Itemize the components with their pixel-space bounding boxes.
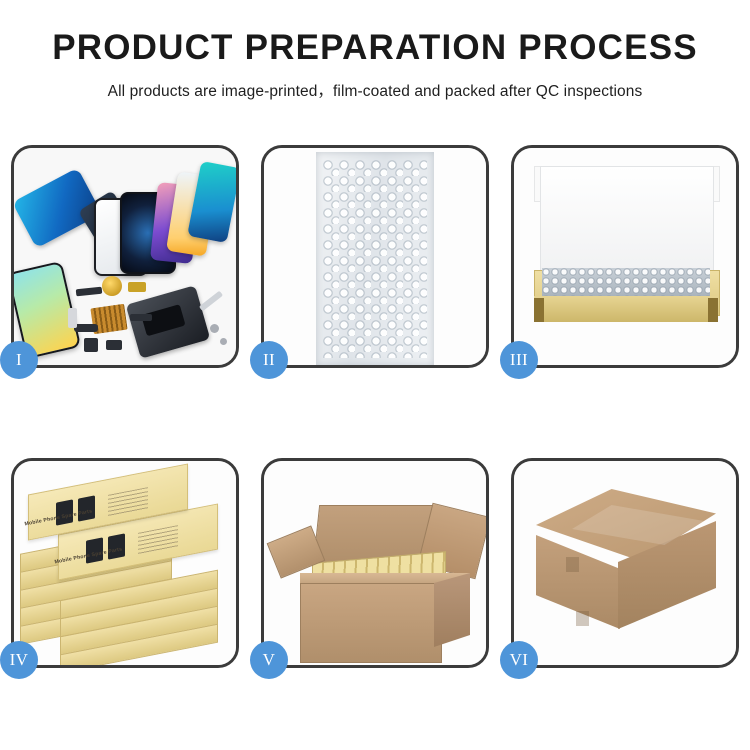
- step-card-6: VI: [511, 458, 739, 668]
- mailer-tray-corner-right: [708, 298, 718, 322]
- step-card-1: I: [11, 145, 239, 368]
- step-card-5: V: [261, 458, 489, 668]
- phone-back-housing: [126, 285, 211, 359]
- speaker-part: [106, 340, 122, 350]
- step-image-5: [264, 461, 486, 665]
- open-mailer-box-illustration: [514, 148, 736, 365]
- step-image-4: Mobile Phone Spare Parts Mobile Phone Sp…: [14, 461, 236, 665]
- step-image-2: [264, 148, 486, 365]
- flex-cable-part: [130, 314, 152, 321]
- step-badge-2: II: [250, 341, 288, 379]
- connector-part-1: [76, 287, 103, 297]
- screw-part-1: [210, 324, 219, 333]
- page-header: PRODUCT PREPARATION PROCESS All products…: [0, 0, 750, 101]
- bubble-wrap-illustration: [264, 148, 486, 365]
- mailer-lid: [540, 166, 714, 280]
- sealed-carton-tab-top: [566, 557, 579, 572]
- phones-and-parts-illustration: [14, 148, 236, 365]
- mailer-bubble-contents: [542, 268, 710, 296]
- screw-part-2: [220, 338, 227, 345]
- stacked-boxes-illustration: Mobile Phone Spare Parts Mobile Phone Sp…: [14, 461, 236, 665]
- open-carton-illustration: [264, 461, 486, 665]
- step-image-3: [514, 148, 736, 365]
- step-card-4: Mobile Phone Spare Parts Mobile Phone Sp…: [11, 458, 239, 668]
- gold-contact-part: [128, 282, 146, 292]
- tweezers-part: [199, 291, 223, 312]
- process-steps-grid: I II III: [11, 145, 739, 668]
- step-image-6: [514, 461, 736, 665]
- connector-part-2: [74, 324, 98, 332]
- page-subtitle: All products are image-printed，film-coat…: [0, 79, 750, 101]
- sim-tray-part: [68, 308, 77, 328]
- step-card-3: III: [511, 145, 739, 368]
- carton-body: [300, 583, 442, 663]
- page-title: PRODUCT PREPARATION PROCESS: [0, 30, 750, 67]
- mailer-tray-corner-left: [534, 298, 544, 322]
- step-image-1: [14, 148, 236, 365]
- carton-side-panel: [434, 573, 470, 647]
- mailer-tray-front: [534, 296, 718, 322]
- step-badge-3: III: [500, 341, 538, 379]
- sealed-carton-illustration: [514, 461, 736, 665]
- camera-module-part: [84, 338, 98, 352]
- step-badge-6: VI: [500, 641, 538, 679]
- bubble-grid: [323, 160, 427, 358]
- copper-coil-part: [102, 276, 122, 296]
- sealed-carton-tab-bottom: [576, 611, 589, 626]
- step-badge-5: V: [250, 641, 288, 679]
- step-card-2: II: [261, 145, 489, 368]
- step-badge-4: IV: [0, 641, 38, 679]
- step-badge-1: I: [0, 341, 38, 379]
